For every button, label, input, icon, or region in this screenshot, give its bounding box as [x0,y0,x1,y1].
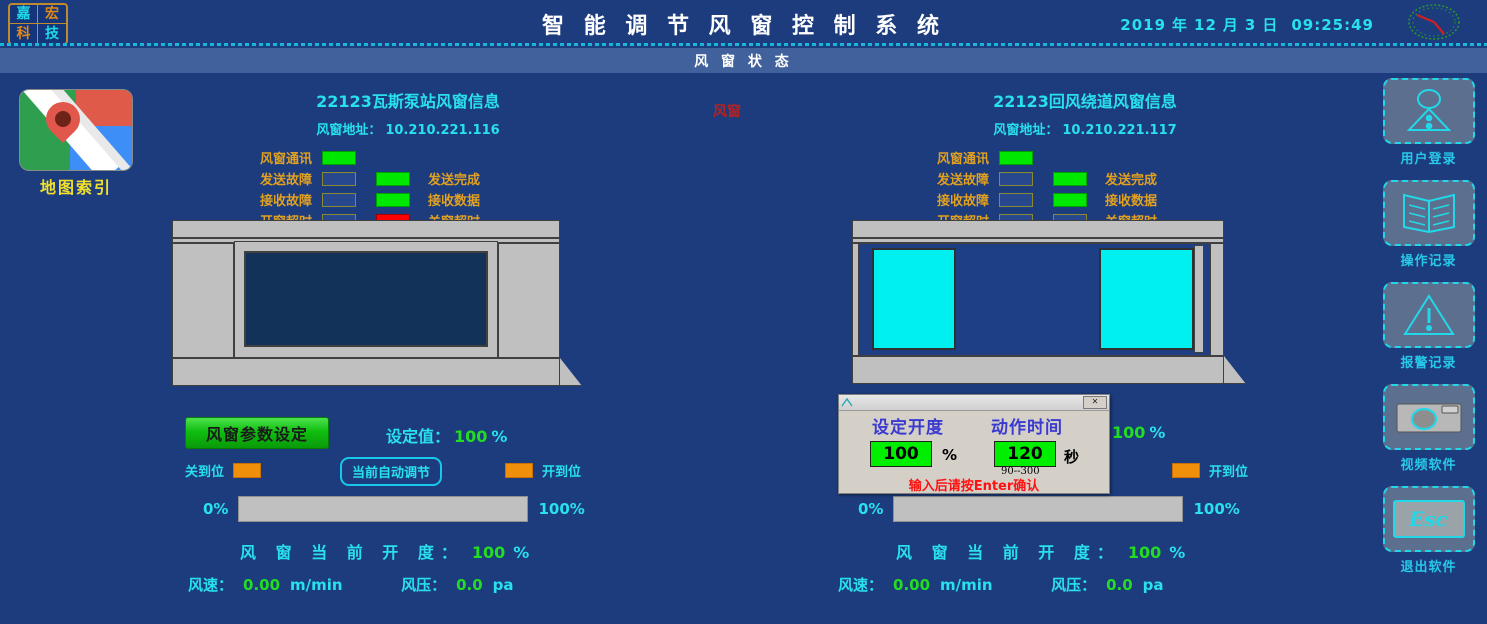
window-base-bevel [1224,356,1246,384]
station-panel-left: 22123瓦斯泵站风窗信息 风窗地址：10.210.221.116 风窗通讯 发… [248,88,568,231]
esc-key-label: Esc [1409,507,1448,531]
wind-pressure-unit: pa [1143,576,1164,594]
close-icon[interactable]: ✕ [1083,396,1107,409]
window-pillar-right [498,243,560,358]
wind-speed-unit: m/min [290,576,343,594]
current-opening-label: 风 窗 当 前 开 度： [240,543,464,562]
opening-progressbar-left: 0% 100% [203,496,585,522]
window-base [852,356,1224,384]
bar-max-label: 100% [538,500,584,518]
month-unit: 月 [1223,16,1239,34]
status-label-2: 发送完成 [1105,169,1157,188]
opening-progressbar-right: 0% 100% [858,496,1240,522]
sidebar-label-exit: 退出软件 [1400,556,1456,575]
month-value: 12 [1194,16,1217,34]
status-led-send-fault [999,172,1033,186]
status-label: 发送故障 [248,169,312,188]
wind-pressure-unit: pa [493,576,514,594]
sidebar-label-video-software: 视频软件 [1400,454,1456,473]
window-diagram-left [172,220,584,385]
address-value: 10.210.221.116 [385,123,499,138]
status-label: 接收故障 [925,190,989,209]
status-list-left: 风窗通讯 发送故障 发送完成 接收故障 接收数据 开窗超时 关窗超时 [248,147,568,231]
window-diagram-right [852,220,1252,385]
video-software-button[interactable] [1383,384,1475,450]
right-sidebar: 用户登录 操作记录 报警记录 [1370,78,1487,588]
wind-pressure-label: 风压： [1051,576,1096,594]
sidebar-item-exit[interactable]: Esc 退出软件 [1370,486,1487,575]
window-slide-rail-right [1194,245,1204,353]
header-divider [0,43,1487,46]
opening-input[interactable]: 100 [870,441,932,467]
status-led-recv-fault [999,193,1033,207]
setpoint-value: 100 [1112,423,1145,442]
datetime-display: 2019年12月3日09:25:49 [1117,14,1377,35]
bar-max-label: 100% [1193,500,1239,518]
setpoint-value: 100 [454,427,487,446]
map-pin-icon [20,90,132,170]
status-row: 风窗通讯 [248,147,568,168]
address-label: 风窗地址： [993,123,1058,138]
status-label-2: 接收数据 [1105,190,1157,209]
wind-speed-label: 风速： [838,576,883,594]
auto-mode-label: 当前自动调节 [352,466,430,481]
wind-pressure-value: 0.0 [1106,576,1133,594]
dialog-titlebar[interactable]: ✕ [839,395,1109,411]
status-led-comm [322,151,356,165]
closed-position-led [233,463,261,478]
sidebar-label-user-login: 用户登录 [1400,148,1456,167]
auto-mode-badge-left: 当前自动调节 [340,457,442,486]
window-pane-open-left [872,248,956,350]
window-base-bevel [560,358,582,386]
open-position-led [505,463,533,478]
opening-input-unit: % [942,446,957,464]
setpoint-unit: % [491,427,507,446]
status-led-send-done [376,172,410,186]
bar-min-label: 0% [203,500,228,518]
param-setting-button-label: 风窗参数设定 [206,421,308,445]
status-subheader: 风 窗 状 态 [0,48,1487,73]
analog-clock-icon [1403,2,1465,42]
status-led-recv-data [376,193,410,207]
setpoint-display-right: 100% [1112,423,1165,442]
status-label: 风窗通讯 [925,148,989,167]
window-pillar-left [172,243,234,358]
day-unit: 日 [1262,16,1278,34]
sidebar-item-operation-log[interactable]: 操作记录 [1370,180,1487,269]
book-record-icon [1399,191,1459,235]
action-time-unit: 秒 [1064,446,1079,467]
year-unit: 年 [1172,16,1188,34]
status-label-2: 发送完成 [428,169,480,188]
status-led-recv-data [1053,193,1087,207]
parameter-dialog: ✕ 设定开度 动作时间 100 % 120 秒 90--300 输入后请按Ent… [838,394,1110,494]
current-opening-unit: % [513,543,529,562]
subheader-title: 风 窗 状 态 [694,51,793,71]
alarm-log-button[interactable] [1383,282,1475,348]
map-index-button[interactable]: 地图索引 [20,90,132,170]
setpoint-unit: % [1149,423,1165,442]
sidebar-label-alarm-log: 报警记录 [1400,352,1456,371]
wind-pressure-label: 风压： [401,576,446,594]
param-setting-button-left[interactable]: 风窗参数设定 [185,417,329,449]
status-led-comm [999,151,1033,165]
window-lintel [172,220,560,238]
open-position-led [1172,463,1200,478]
status-label: 接收故障 [248,190,312,209]
status-list-right: 风窗通讯 发送故障 发送完成 接收故障 接收数据 开窗超时 关窗超时 [925,147,1245,231]
operation-log-button[interactable] [1383,180,1475,246]
status-led-send-fault [322,172,356,186]
day-value: 3 [1245,16,1256,34]
status-led-send-done [1053,172,1087,186]
status-row: 发送故障 发送完成 [248,168,568,189]
wind-pressure-value: 0.0 [456,576,483,594]
current-opening-unit: % [1169,543,1185,562]
metrics-row-right: 风速：0.00m/min 风压：0.0pa [838,574,1164,595]
window-pane-open-right [1099,248,1194,350]
current-opening-left: 风 窗 当 前 开 度：100% [240,539,529,563]
dialog-opening-label: 设定开度 [872,413,944,438]
sidebar-item-user-login[interactable]: 用户登录 [1370,78,1487,167]
closed-position-indicator-left: 关到位 [185,461,270,480]
window-pane-closed [244,251,488,347]
metrics-row-left: 风速：0.00m/min 风压：0.0pa [188,574,514,595]
setpoint-display-left: 设定值：100% [386,423,507,447]
open-position-label: 开到位 [1209,461,1248,480]
window-lintel [852,220,1224,238]
status-led-recv-fault [322,193,356,207]
open-position-indicator-right: 开到位 [1172,461,1248,480]
panel-title-left: 22123瓦斯泵站风窗信息 [248,88,568,112]
wind-speed-value: 0.00 [243,576,280,594]
open-position-indicator-left: 开到位 [505,461,581,480]
user-login-button[interactable] [1383,78,1475,144]
current-opening-right: 风 窗 当 前 开 度：100% [896,539,1185,563]
center-note: 风窗 [713,101,741,121]
wind-speed-unit: m/min [940,576,993,594]
map-index-label: 地图索引 [20,174,132,198]
status-label: 风窗通讯 [248,148,312,167]
dialog-app-icon [841,397,853,408]
top-header-bar: 嘉 宏 科 技 智 能 调 节 风 窗 控 制 系 统 2019年12月3日09… [0,0,1487,44]
current-opening-value: 100 [472,543,505,562]
open-position-label: 开到位 [542,461,581,480]
address-value: 10.210.221.117 [1062,123,1176,138]
status-label-2: 接收数据 [428,190,480,209]
camera-icon [1394,396,1464,438]
progress-track[interactable] [238,496,528,522]
status-row: 接收故障 接收数据 [925,189,1245,210]
address-label: 风窗地址： [316,123,381,138]
sidebar-label-operation-log: 操作记录 [1400,250,1456,269]
panel-address-left: 风窗地址：10.210.221.116 [248,119,568,138]
dialog-enter-hint: 输入后请按Enter确认 [839,475,1109,494]
time-value: 09:25:49 [1291,16,1374,34]
year-value: 2019 [1120,16,1166,34]
window-jamb-right [1210,243,1224,356]
setpoint-label: 设定值： [386,427,450,446]
action-time-input[interactable]: 120 [994,441,1056,467]
panel-address-right: 风窗地址：10.210.221.117 [925,119,1245,138]
status-row: 接收故障 接收数据 [248,189,568,210]
progress-track[interactable] [893,496,1183,522]
wind-speed-label: 风速： [188,576,233,594]
status-row: 发送故障 发送完成 [925,168,1245,189]
station-panel-right: 22123回风绕道风窗信息 风窗地址：10.210.221.117 风窗通讯 发… [925,88,1245,231]
current-opening-value: 100 [1128,543,1161,562]
current-opening-label: 风 窗 当 前 开 度： [896,543,1120,562]
wind-speed-value: 0.00 [893,576,930,594]
status-label: 发送故障 [925,169,989,188]
status-row: 风窗通讯 [925,147,1245,168]
warning-triangle-icon [1401,292,1457,338]
dialog-body: 设定开度 动作时间 100 % 120 秒 90--300 输入后请按Enter… [839,411,1109,493]
exit-button[interactable]: Esc [1383,486,1475,552]
window-base [172,358,560,386]
esc-key-icon: Esc [1393,500,1465,538]
sidebar-item-video-software[interactable]: 视频软件 [1370,384,1487,473]
user-login-icon [1401,88,1457,134]
window-jamb-left [852,243,859,356]
panel-title-right: 22123回风绕道风窗信息 [925,88,1245,112]
bar-min-label: 0% [858,500,883,518]
sidebar-item-alarm-log[interactable]: 报警记录 [1370,282,1487,371]
dialog-time-label: 动作时间 [991,413,1063,438]
closed-position-label: 关到位 [185,461,224,480]
